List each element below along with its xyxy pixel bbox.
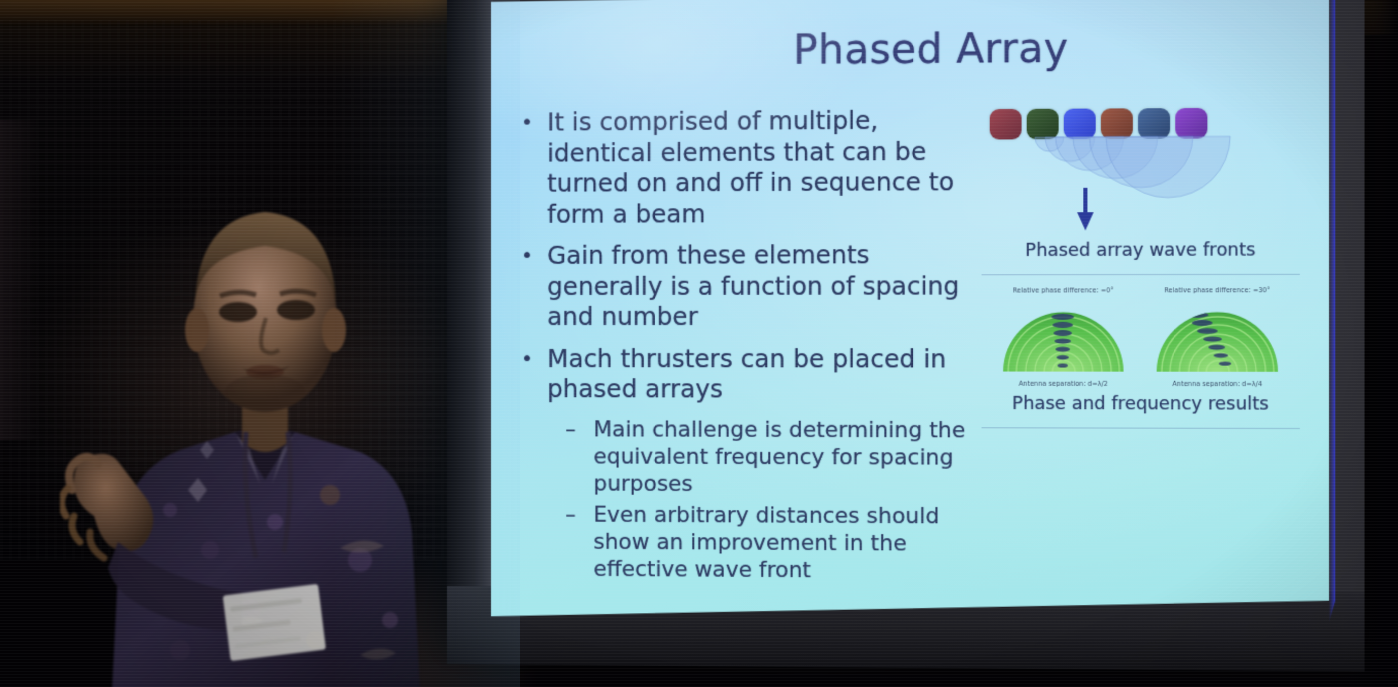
panel-header: Relative phase difference: =30° — [1152, 287, 1282, 294]
bullet-item: Mach thrusters can be placed in phased a… — [507, 344, 967, 406]
slide-title: Phased Array — [491, 24, 1329, 76]
beam-arrow-icon — [1077, 188, 1093, 231]
bullet-list: It is comprised of multiple, identical e… — [507, 105, 967, 585]
presenter-ear-right — [322, 308, 346, 352]
bullet-item: It is comprised of multiple, identical e… — [507, 105, 967, 230]
slide-figure-column: Phased array wave fronts Relative phase … — [967, 103, 1329, 622]
panel-footer: Antenna separation: d=λ/2 — [999, 380, 1128, 388]
lecture-scene: Phased Array It is comprised of multiple… — [0, 0, 1398, 687]
figure-phased-array-wavefronts: Phased array wave fronts — [977, 103, 1304, 261]
panel-header: Relative phase difference: =0° — [999, 287, 1128, 294]
sub-bullet-item: Even arbitrary distances should show an … — [507, 501, 967, 585]
figure-caption: Phase and frequency results — [977, 394, 1304, 415]
phased-array-artwork — [977, 103, 1304, 234]
presenter-hand — [61, 454, 153, 558]
bullet-item: Gain from these elements generally is a … — [507, 240, 967, 333]
figure-phase-frequency-results: Relative phase difference: =0° — [977, 287, 1304, 415]
radiation-pattern-panel: Relative phase difference: =0° — [999, 287, 1128, 388]
figure-caption: Phased array wave fronts — [977, 240, 1304, 261]
presenter-eye-right — [277, 300, 315, 320]
radiation-dome — [999, 296, 1128, 371]
left-wall-panel — [0, 120, 40, 440]
screen-frame-left-shadow — [447, 0, 493, 656]
projection-screen: Phased Array It is comprised of multiple… — [447, 0, 1372, 672]
slide-right-edge — [1329, 0, 1335, 622]
name-badge — [223, 584, 326, 661]
radiation-dome — [1152, 296, 1282, 372]
figure-divider-bottom — [982, 427, 1300, 429]
radiation-pattern-panel: Relative phase difference: =30° — [1152, 287, 1282, 388]
presentation-slide: Phased Array It is comprised of multiple… — [491, 0, 1329, 622]
presenter-eye-left — [219, 302, 257, 322]
presenter — [60, 150, 480, 687]
wavefront-arc — [1106, 136, 1230, 198]
presenter-ear-left — [185, 308, 209, 352]
sub-bullet-item: Main challenge is determining the equiva… — [507, 416, 967, 499]
wavefront-diagram — [986, 134, 1313, 233]
slide-bullet-column: It is comprised of multiple, identical e… — [491, 105, 967, 619]
figure-divider — [982, 274, 1300, 275]
panel-footer: Antenna separation: d=λ/4 — [1152, 380, 1282, 388]
